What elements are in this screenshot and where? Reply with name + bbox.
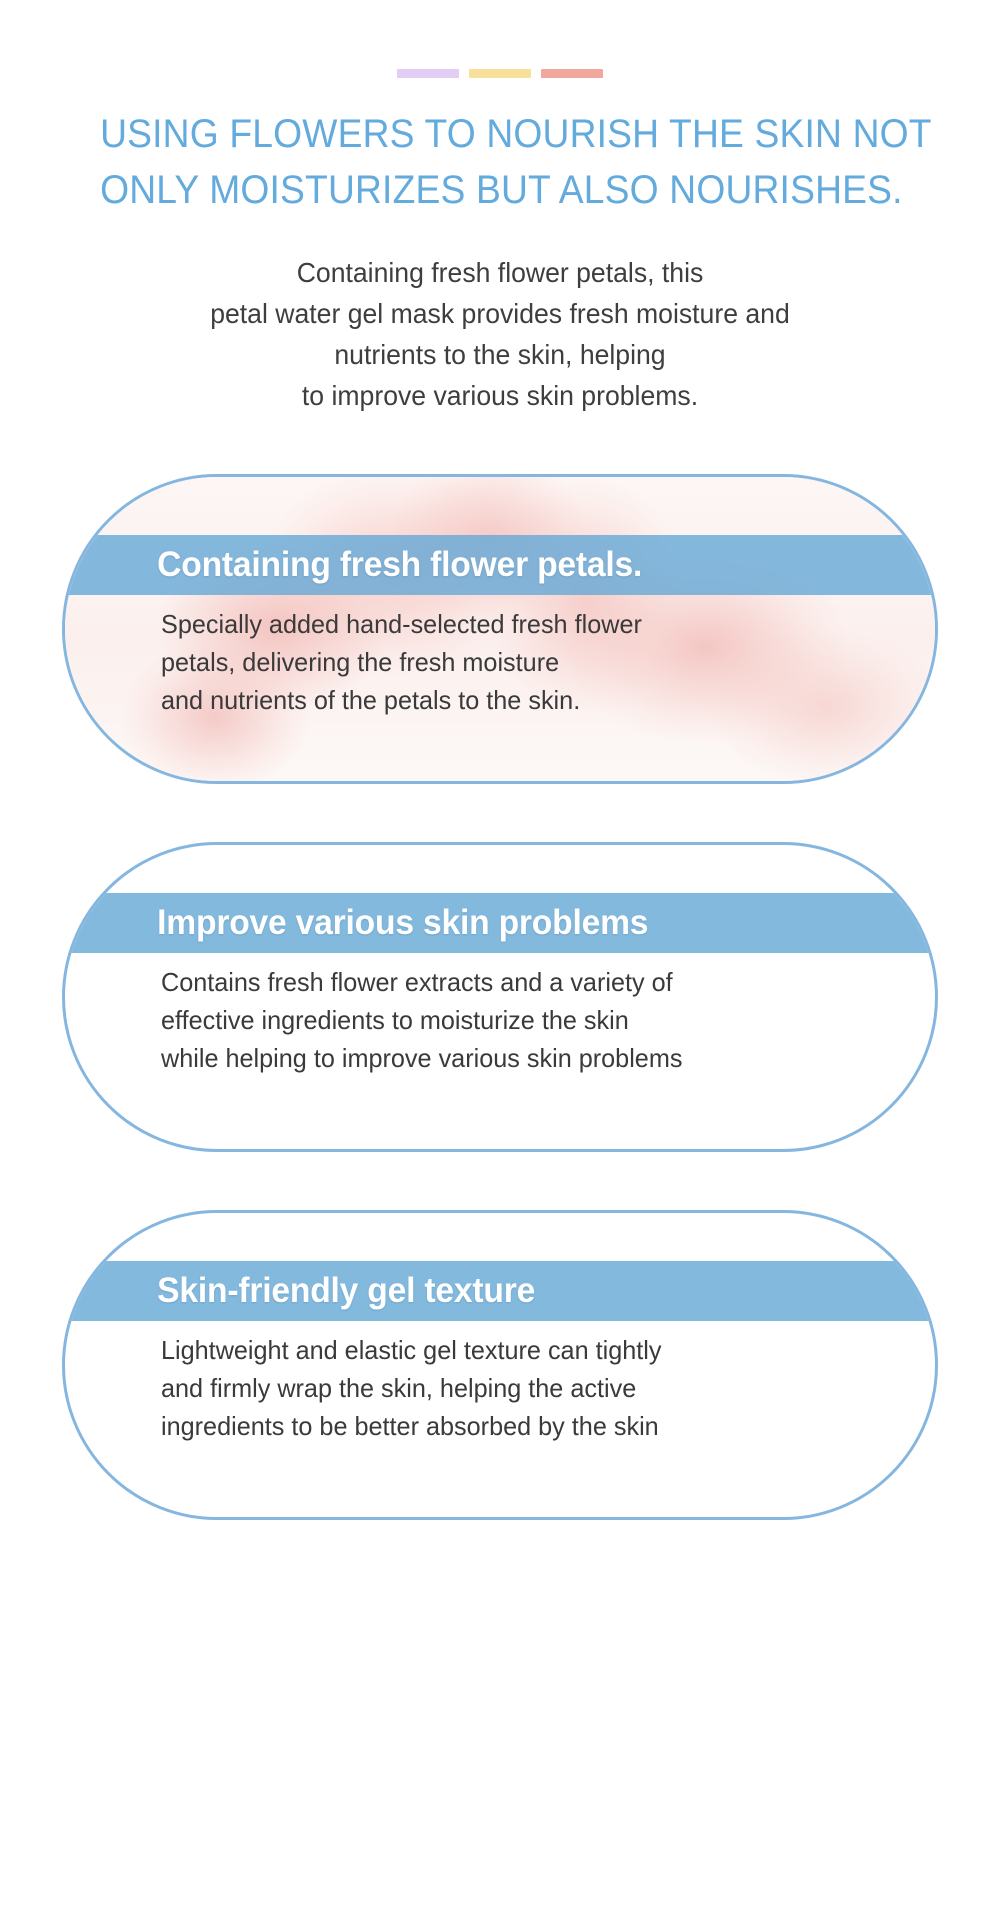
card-description-line-3: and nutrients of the petals to the skin.: [161, 681, 854, 719]
intro-paragraph: Containing fresh flower petals, this pet…: [92, 252, 909, 416]
card-description-line-1: Contains fresh flower extracts and a var…: [161, 963, 854, 1001]
card-description-line-2: effective ingredients to moisturize the …: [161, 1001, 854, 1039]
card-title-band: Improve various skin problems: [65, 893, 935, 953]
feature-card-fresh-flower-petals: Containing fresh flower petals. Speciall…: [62, 474, 938, 784]
card-title-band: Containing fresh flower petals.: [65, 535, 935, 595]
decorative-bar-pink: [541, 69, 603, 78]
card-title-band: Skin-friendly gel texture: [65, 1261, 935, 1321]
card-description-line-2: petals, delivering the fresh moisture: [161, 643, 854, 681]
card-description-line-1: Specially added hand-selected fresh flow…: [161, 605, 854, 643]
card-description: Specially added hand-selected fresh flow…: [161, 605, 854, 719]
card-description-line-1: Lightweight and elastic gel texture can …: [161, 1331, 854, 1369]
card-description: Lightweight and elastic gel texture can …: [161, 1331, 854, 1445]
card-title: Containing fresh flower petals.: [65, 545, 642, 585]
decorative-bar-purple: [397, 69, 459, 78]
decorative-bar-yellow: [469, 69, 531, 78]
card-description-line-3: ingredients to be better absorbed by the…: [161, 1407, 854, 1445]
feature-card-skin-friendly-gel: Skin-friendly gel texture Lightweight an…: [62, 1210, 938, 1520]
card-title: Improve various skin problems: [65, 903, 648, 943]
intro-line-3: nutrients to the skin, helping: [92, 334, 909, 375]
feature-card-improve-skin-problems: Improve various skin problems Contains f…: [62, 842, 938, 1152]
page-title-line-1: USING FLOWERS TO NOURISH THE SKIN NOT: [100, 106, 900, 162]
card-description: Contains fresh flower extracts and a var…: [161, 963, 854, 1077]
card-description-line-2: and firmly wrap the skin, helping the ac…: [161, 1369, 854, 1407]
product-feature-page: USING FLOWERS TO NOURISH THE SKIN NOT ON…: [0, 0, 1000, 1913]
intro-line-4: to improve various skin problems.: [92, 375, 909, 416]
feature-card-list: Containing fresh flower petals. Speciall…: [0, 474, 1000, 1520]
decorative-bar-group: [0, 0, 1000, 80]
card-description-line-3: while helping to improve various skin pr…: [161, 1039, 854, 1077]
card-title: Skin-friendly gel texture: [65, 1271, 535, 1311]
intro-line-2: petal water gel mask provides fresh mois…: [92, 293, 909, 334]
page-title: USING FLOWERS TO NOURISH THE SKIN NOT ON…: [100, 106, 900, 218]
intro-line-1: Containing fresh flower petals, this: [92, 252, 909, 293]
page-title-line-2: ONLY MOISTURIZES BUT ALSO NOURISHES.: [100, 162, 900, 218]
